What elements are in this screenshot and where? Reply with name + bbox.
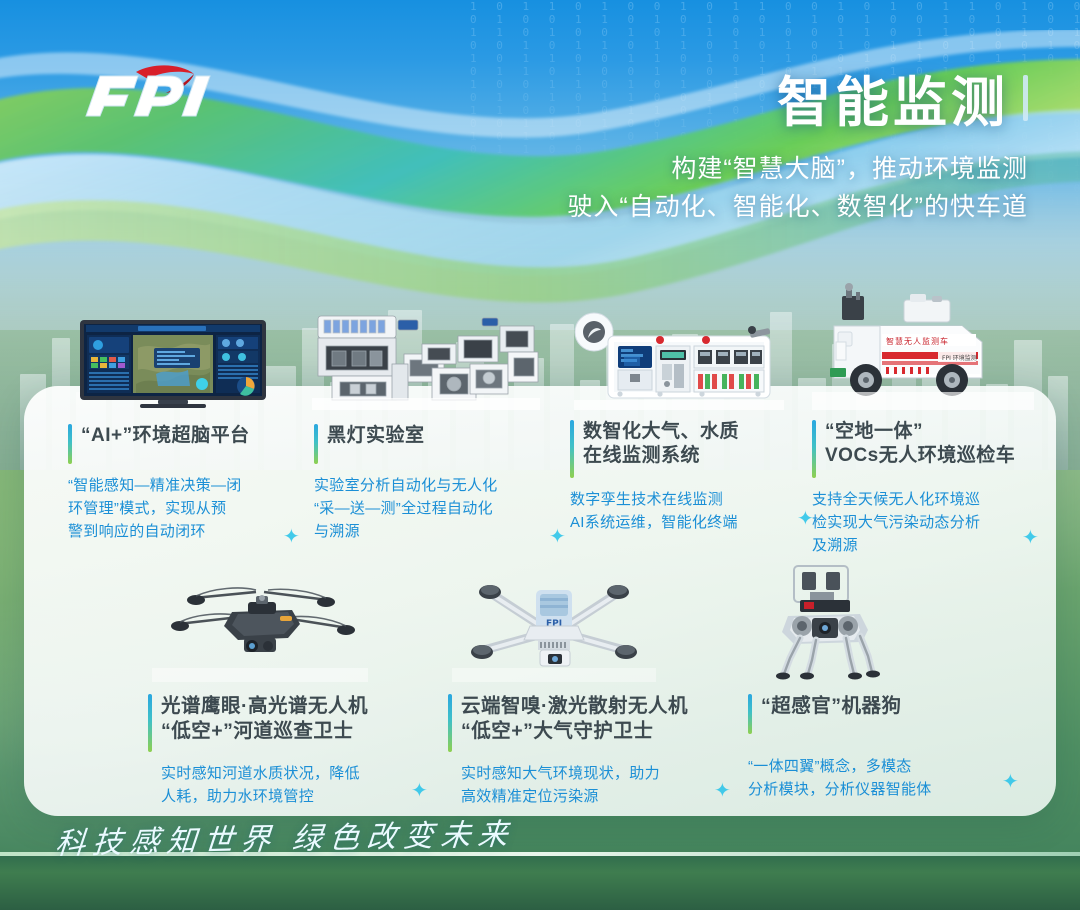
card-description: 实验室分析自动化与无人化 “采—送—测”全过程自动化 与溯源 bbox=[314, 475, 550, 543]
card-title: 云端智嗅·激光散射无人机 “低空+”大气守护卫士 bbox=[461, 694, 688, 744]
card-header: 数智化大气、水质 在线监测系统 bbox=[570, 420, 802, 478]
card-header: “超感官”机器狗 bbox=[748, 694, 1010, 734]
card-cloud-smart-nose-laser-drone[interactable]: 云端智嗅·激光散射无人机 “低空+”大气守护卫士 实时感知大气环境现状，助力 高… bbox=[448, 694, 722, 809]
card-dark-lab[interactable]: 黑灯实验室 实验室分析自动化与无人化 “采—送—测”全过程自动化 与溯源 bbox=[314, 424, 550, 543]
fpi-logo bbox=[78, 58, 218, 128]
card-title: 数智化大气、水质 在线监测系统 bbox=[583, 420, 739, 469]
card-title: “超感官”机器狗 bbox=[761, 694, 902, 719]
card-description: 数字孪生技术在线监测 AI系统运维，智能化终端 bbox=[570, 489, 802, 535]
dashboard-monitor-image bbox=[78, 318, 268, 410]
sparkle-icon: ✦ bbox=[411, 781, 428, 801]
sparkle-icon: ✦ bbox=[549, 527, 566, 547]
card-accent-bar bbox=[148, 694, 152, 752]
unmanned-inspection-vehicle-image: 智慧无人监测车 FPI 环境监测 bbox=[812, 282, 1034, 410]
svg-text:FPI 环境监测: FPI 环境监测 bbox=[942, 354, 977, 362]
card-header: “AI+”环境超脑平台 bbox=[68, 424, 298, 464]
sparkle-icon: ✦ bbox=[283, 527, 300, 547]
card-accent-bar bbox=[812, 420, 816, 478]
title-accent-bar bbox=[1023, 75, 1028, 121]
card-super-sense-robot-dog[interactable]: “超感官”机器狗 “一体四翼”概念，多模态 分析模块，分析仪器智能体 bbox=[748, 694, 1010, 802]
card-description: 实时感知河道水质状况，降低 人耗，助力水环境管控 bbox=[161, 763, 416, 809]
sparkle-icon: ✦ bbox=[1002, 772, 1019, 792]
monitoring-station-image bbox=[574, 310, 784, 410]
card-header: 光谱鹰眼·高光谱无人机 “低空+”河道巡查卫士 bbox=[148, 694, 416, 752]
card-title: 光谱鹰眼·高光谱无人机 “低空+”河道巡查卫士 bbox=[161, 694, 368, 744]
card-header: 黑灯实验室 bbox=[314, 424, 550, 464]
card-accent-bar bbox=[448, 694, 452, 752]
page-title: 智能监测 bbox=[567, 58, 1028, 137]
subtitle-line-2: 驶入“自动化、智能化、数智化”的快车道 bbox=[567, 189, 1028, 227]
bottom-band bbox=[0, 852, 1080, 910]
card-accent-bar bbox=[314, 424, 318, 464]
card-title: 黑灯实验室 bbox=[327, 424, 425, 448]
page-subtitle: 构建“智慧大脑”，推动环境监测 驶入“自动化、智能化、数智化”的快车道 bbox=[567, 151, 1028, 226]
laser-scattering-drone-image: FPI bbox=[452, 572, 656, 682]
card-header: “空地一体” VOCs无人环境巡检车 bbox=[812, 420, 1058, 478]
svg-text:智慧无人监测车: 智慧无人监测车 bbox=[886, 336, 949, 346]
lab-automation-line-image bbox=[312, 306, 540, 410]
card-digital-air-water-online-monitoring[interactable]: 数智化大气、水质 在线监测系统 数字孪生技术在线监测 AI系统运维，智能化终端 bbox=[570, 420, 802, 535]
card-title: “空地一体” VOCs无人环境巡检车 bbox=[825, 420, 1015, 469]
main-title-text: 智能监测 bbox=[777, 58, 1009, 137]
subtitle-line-1: 构建“智慧大脑”，推动环境监测 bbox=[567, 151, 1028, 189]
header-title-block: 智能监测 构建“智慧大脑”，推动环境监测 驶入“自动化、智能化、数智化”的快车道 bbox=[567, 58, 1028, 226]
card-description: 实时感知大气环境现状，助力 高效精准定位污染源 bbox=[461, 763, 722, 809]
robot-dog-image bbox=[750, 560, 920, 682]
card-accent-bar bbox=[570, 420, 574, 478]
card-accent-bar bbox=[68, 424, 72, 464]
card-description: “一体四翼”概念，多模态 分析模块，分析仪器智能体 bbox=[748, 756, 1010, 802]
card-title: “AI+”环境超脑平台 bbox=[81, 424, 250, 448]
card-accent-bar bbox=[748, 694, 752, 734]
sparkle-icon: ✦ bbox=[1022, 528, 1039, 548]
sparkle-icon: ✦ bbox=[714, 781, 731, 801]
card-hyperspectral-drone-river-guard[interactable]: 光谱鹰眼·高光谱无人机 “低空+”河道巡查卫士 实时感知河道水质状况，降低 人耗… bbox=[148, 694, 416, 809]
card-header: 云端智嗅·激光散射无人机 “低空+”大气守护卫士 bbox=[448, 694, 722, 752]
poster-canvas: 1 0 1 1 0 1 0 0 1 0 1 1 0 0 1 0 1 0 1 1 … bbox=[0, 0, 1080, 910]
hyperspectral-drone-image bbox=[152, 572, 368, 682]
card-description: “智能感知—精准决策—闭 环管理”模式，实现从预 警到响应的自动闭环 bbox=[68, 475, 298, 543]
card-ai-environment-super-brain-platform[interactable]: “AI+”环境超脑平台 “智能感知—精准决策—闭 环管理”模式，实现从预 警到响… bbox=[68, 424, 298, 543]
